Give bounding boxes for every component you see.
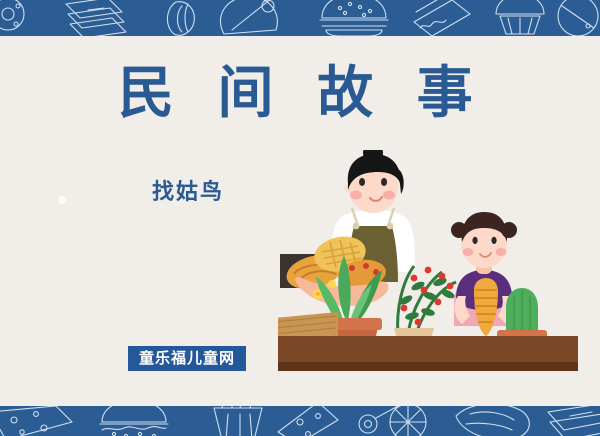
food-pattern-band-bottom [0, 406, 600, 436]
story-subtitle: 找姑鸟 [152, 178, 224, 206]
cheese-wedge-icon [278, 406, 338, 436]
fries-icon [214, 406, 262, 436]
poster-canvas: 民 间 故 事 找姑鸟 [0, 0, 600, 436]
site-badge[interactable]: 童乐福儿童网 [128, 346, 246, 371]
sandwich-icon [66, 0, 126, 36]
bread-loaf-held [474, 278, 498, 336]
mother-and-daughter-bakery-illustration [278, 150, 578, 380]
food-pattern-band-top [0, 0, 600, 36]
hot-dog-icon [167, 2, 194, 36]
table-edge [278, 362, 578, 371]
cake-slice-icon [414, 0, 470, 36]
hamburger-icon [100, 406, 168, 436]
sandwich-icon [548, 406, 600, 436]
cheese-icon [0, 406, 72, 436]
decorative-dot [58, 196, 66, 204]
cookie-icon [558, 0, 598, 36]
donut-icon [0, 0, 24, 30]
lemon-slice-icon [359, 406, 426, 436]
pizza-slice-icon [220, 0, 277, 34]
page-title: 民 间 故 事 [118, 62, 487, 124]
table-top [278, 336, 578, 362]
cupcake-icon [496, 0, 544, 34]
hamburger-icon [320, 0, 388, 36]
croissant-icon [456, 406, 529, 436]
